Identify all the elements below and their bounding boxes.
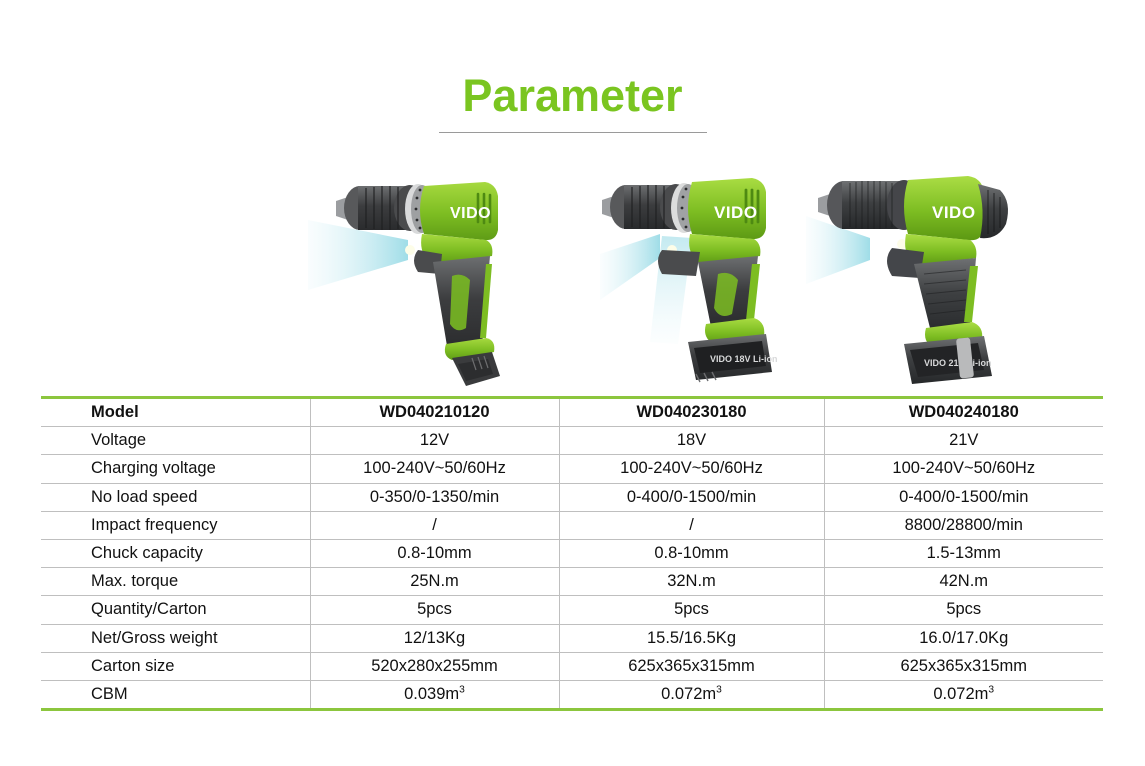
cell-impact-b: / xyxy=(559,511,824,539)
table-row-max-torque: Max. torque 25N.m 32N.m 42N.m xyxy=(41,568,1103,596)
cell-voltage-b: 18V xyxy=(559,427,824,455)
table-row-model: Model WD040210120 WD040230180 WD04024018… xyxy=(41,399,1103,427)
cell-impact-a: / xyxy=(310,511,559,539)
title-underline-rule xyxy=(439,132,707,133)
row-label: Max. torque xyxy=(41,568,310,596)
row-label: No load speed xyxy=(41,483,310,511)
cbm-superscript-b: 3 xyxy=(716,685,722,696)
product-image-row: VIDO xyxy=(0,160,1145,395)
cbm-superscript-a: 3 xyxy=(459,685,465,696)
cell-charging-b: 100-240V~50/60Hz xyxy=(559,455,824,483)
cell-qty-b: 5pcs xyxy=(559,596,824,624)
cell-speed-a: 0-350/0-1350/min xyxy=(310,483,559,511)
row-label: Carton size xyxy=(41,652,310,680)
cbm-value-c: 0.072m xyxy=(933,685,988,703)
cell-speed-b: 0-400/0-1500/min xyxy=(559,483,824,511)
page-header: Parameter xyxy=(0,70,1145,133)
battery-label-text: VIDO 21V Li-ion xyxy=(924,358,992,368)
row-label: Model xyxy=(41,399,310,427)
parameter-table-body: Model WD040210120 WD040230180 WD04024018… xyxy=(41,399,1103,708)
cell-speed-c: 0-400/0-1500/min xyxy=(824,483,1103,511)
brand-logo-text: VIDO xyxy=(450,205,491,222)
battery-label-text: VIDO 18V Li-ion xyxy=(710,354,778,364)
product-image-wd040210120: VIDO xyxy=(300,168,570,403)
drill-illustration-3: VIDO VIDO 21V Li-ion xyxy=(800,162,1070,397)
cell-chuck-c: 1.5-13mm xyxy=(824,540,1103,568)
brand-logo-text: VIDO xyxy=(714,203,758,222)
row-label: Voltage xyxy=(41,427,310,455)
cell-charging-c: 100-240V~50/60Hz xyxy=(824,455,1103,483)
cbm-value-b: 0.072m xyxy=(661,685,716,703)
table-bottom-accent-rule xyxy=(41,708,1103,711)
cell-torque-c: 42N.m xyxy=(824,568,1103,596)
table-row-no-load-speed: No load speed 0-350/0-1350/min 0-400/0-1… xyxy=(41,483,1103,511)
cell-model-c: WD040240180 xyxy=(824,399,1103,427)
cell-qty-c: 5pcs xyxy=(824,596,1103,624)
cell-chuck-a: 0.8-10mm xyxy=(310,540,559,568)
row-label: CBM xyxy=(41,681,310,709)
row-label: Impact frequency xyxy=(41,511,310,539)
table-row-charging-voltage: Charging voltage 100-240V~50/60Hz 100-24… xyxy=(41,455,1103,483)
table-row-impact-frequency: Impact frequency / / 8800/28800/min xyxy=(41,511,1103,539)
parameter-table-container: Model WD040210120 WD040230180 WD04024018… xyxy=(41,396,1103,711)
drill-illustration-1: VIDO xyxy=(300,168,570,403)
cell-chuck-b: 0.8-10mm xyxy=(559,540,824,568)
cell-model-a: WD040210120 xyxy=(310,399,559,427)
brand-logo-text: VIDO xyxy=(932,203,976,222)
cell-impact-c: 8800/28800/min xyxy=(824,511,1103,539)
table-row-chuck-capacity: Chuck capacity 0.8-10mm 0.8-10mm 1.5-13m… xyxy=(41,540,1103,568)
led-beam-icon xyxy=(600,234,660,300)
cell-cbm-a: 0.039m3 xyxy=(310,681,559,709)
cbm-superscript-c: 3 xyxy=(988,685,994,696)
table-row-net-gross-weight: Net/Gross weight 12/13Kg 15.5/16.5Kg 16.… xyxy=(41,624,1103,652)
cell-model-b: WD040230180 xyxy=(559,399,824,427)
cell-carton-a: 520x280x255mm xyxy=(310,652,559,680)
table-row-cbm: CBM 0.039m3 0.072m3 0.072m3 xyxy=(41,681,1103,709)
cell-weight-b: 15.5/16.5Kg xyxy=(559,624,824,652)
cell-weight-a: 12/13Kg xyxy=(310,624,559,652)
cell-weight-c: 16.0/17.0Kg xyxy=(824,624,1103,652)
cell-voltage-a: 12V xyxy=(310,427,559,455)
table-row-voltage: Voltage 12V 18V 21V xyxy=(41,427,1103,455)
row-label: Chuck capacity xyxy=(41,540,310,568)
led-beam-icon xyxy=(308,220,408,290)
cell-carton-b: 625x365x315mm xyxy=(559,652,824,680)
row-label: Charging voltage xyxy=(41,455,310,483)
cell-cbm-c: 0.072m3 xyxy=(824,681,1103,709)
cell-voltage-c: 21V xyxy=(824,427,1103,455)
cell-qty-a: 5pcs xyxy=(310,596,559,624)
parameter-table: Model WD040210120 WD040230180 WD04024018… xyxy=(41,399,1103,708)
product-image-wd040240180: VIDO VIDO 21V Li-ion xyxy=(800,162,1070,397)
cell-charging-a: 100-240V~50/60Hz xyxy=(310,455,559,483)
cell-cbm-b: 0.072m3 xyxy=(559,681,824,709)
row-label: Net/Gross weight xyxy=(41,624,310,652)
cell-carton-c: 625x365x315mm xyxy=(824,652,1103,680)
table-row-carton-size: Carton size 520x280x255mm 625x365x315mm … xyxy=(41,652,1103,680)
page-title: Parameter xyxy=(0,70,1145,122)
cell-torque-a: 25N.m xyxy=(310,568,559,596)
table-row-quantity-carton: Quantity/Carton 5pcs 5pcs 5pcs xyxy=(41,596,1103,624)
cbm-value-a: 0.039m xyxy=(404,685,459,703)
cell-torque-b: 32N.m xyxy=(559,568,824,596)
row-label: Quantity/Carton xyxy=(41,596,310,624)
